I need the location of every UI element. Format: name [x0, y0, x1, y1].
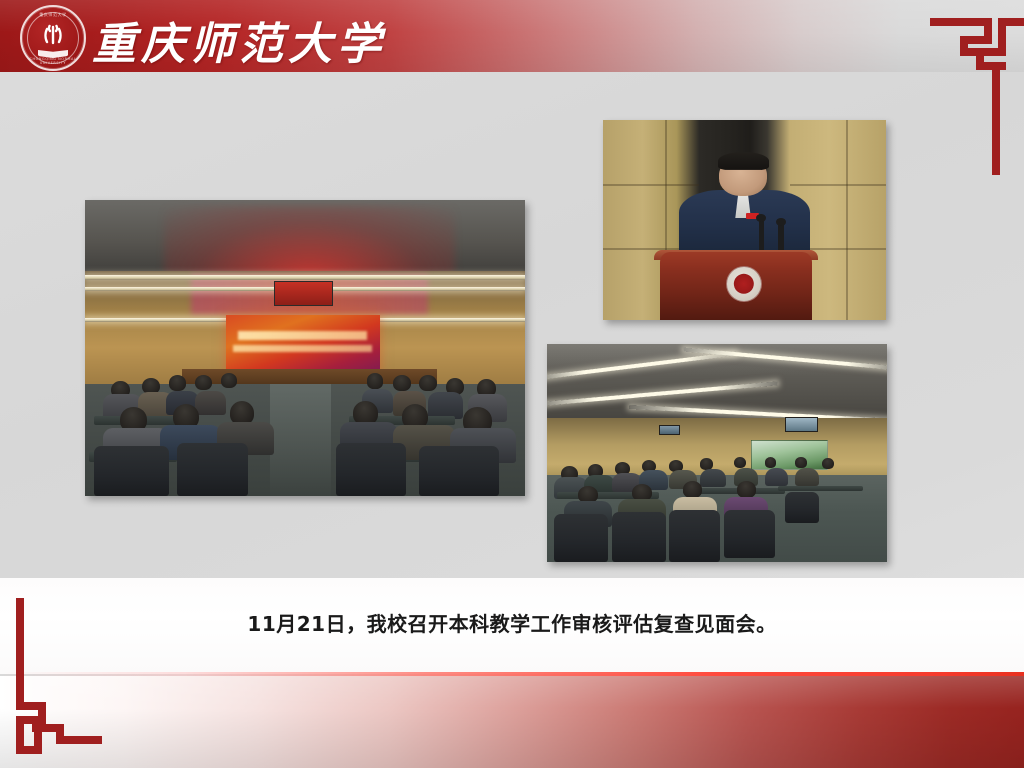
audience-chair — [554, 514, 608, 562]
audience-head — [683, 481, 702, 497]
audience-body — [195, 391, 226, 415]
slide-caption: 11月21日，我校召开本科教学工作审核评估复查见面会。 — [0, 608, 1024, 637]
audience-head — [393, 375, 411, 391]
hall-red-glow — [164, 206, 454, 277]
audience-chair — [419, 446, 498, 496]
audience-chair — [785, 492, 819, 523]
wide-hall-monitor — [785, 417, 818, 432]
audience-chair — [612, 512, 666, 562]
audience-head — [822, 458, 834, 469]
audience-head — [221, 373, 237, 388]
photo-hall-wide — [547, 344, 887, 562]
slide-canvas: 重庆师范大学 CHONGQING NORMAL UNIVERSITY 重庆师范大… — [0, 0, 1024, 768]
wall-seam — [603, 184, 699, 186]
wide-hall-monitor — [659, 425, 680, 436]
podium-emblem-center — [734, 274, 754, 294]
audience-head — [765, 457, 777, 467]
hall-led-screen — [226, 315, 380, 374]
audience-chair — [94, 446, 169, 496]
photo-speaker — [603, 120, 886, 320]
hall-overhead-monitor — [274, 281, 333, 305]
audience-desk — [778, 486, 863, 491]
audience-head — [737, 481, 756, 497]
audience-head — [795, 457, 807, 467]
audience-chair — [669, 510, 720, 562]
wide-hall-projection-screen — [751, 440, 828, 470]
audience-head — [367, 373, 384, 388]
hall-light-beam — [85, 275, 525, 280]
podium-university-emblem-icon — [726, 266, 762, 302]
university-seal-icon: 重庆师范大学 CHONGQING NORMAL UNIVERSITY — [20, 5, 86, 71]
audience-head — [419, 375, 437, 392]
wall-seam — [790, 184, 886, 186]
photo-hall-main — [85, 200, 525, 496]
audience-head — [734, 457, 746, 468]
audience-body — [700, 469, 726, 486]
hall-center-aisle — [270, 384, 332, 496]
audience-chair — [336, 443, 406, 496]
seal-ring-text-top: 重庆师范大学 — [22, 13, 84, 17]
footer-gradient-band — [0, 676, 1024, 768]
seal-flame-icon — [36, 19, 70, 53]
audience-chair — [177, 443, 247, 496]
university-name-title: 重庆师范大学 — [92, 8, 386, 72]
speaker-hair — [718, 152, 769, 170]
speaker-glasses-icon — [725, 169, 762, 176]
wall-seam — [846, 120, 848, 320]
audience-head — [169, 375, 187, 391]
led-title-line — [238, 331, 367, 340]
seal-ring-text-bottom: CHONGQING NORMAL UNIVERSITY — [22, 58, 84, 65]
audience-head — [700, 458, 713, 469]
audience-head — [195, 375, 212, 390]
audience-body — [428, 392, 463, 419]
audience-body — [795, 468, 819, 485]
audience-chair — [724, 510, 775, 558]
led-subtitle-line — [233, 345, 372, 352]
audience-body — [765, 468, 789, 485]
